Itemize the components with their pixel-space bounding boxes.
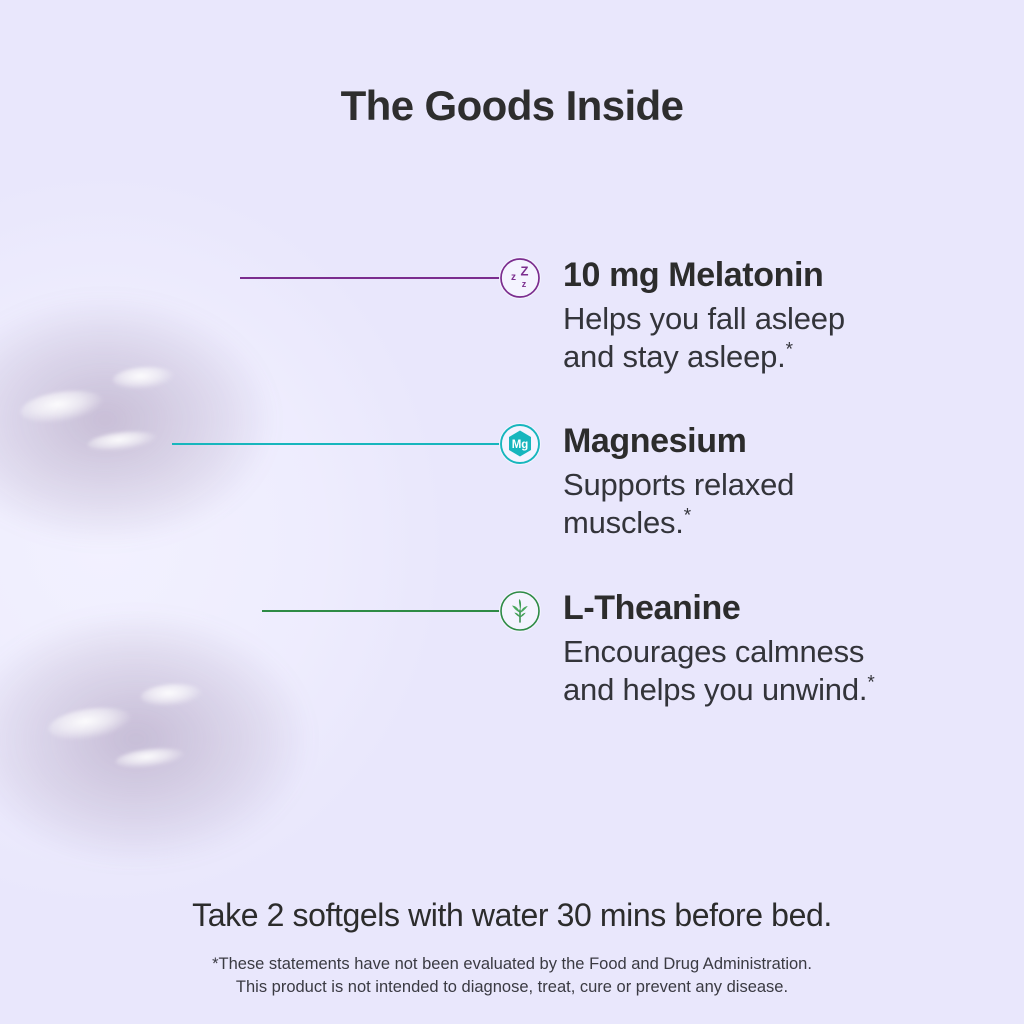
- benefit-melatonin-footnote-marker: *: [786, 340, 793, 361]
- benefit-magnesium-desc-line2: muscles.: [563, 505, 684, 540]
- svg-text:z: z: [522, 279, 527, 289]
- svg-text:Mg: Mg: [512, 439, 529, 451]
- svg-text:z: z: [511, 272, 516, 283]
- benefit-magnesium-title: Magnesium: [563, 424, 993, 460]
- page-title: The Goods Inside: [0, 82, 1024, 130]
- benefit-theanine: L-Theanine Encourages calmness and helps…: [563, 591, 993, 710]
- leader-line-theanine: [262, 610, 502, 612]
- svg-text:Z: Z: [521, 264, 529, 279]
- benefit-theanine-description: Encourages calmness and helps you unwind…: [563, 633, 993, 710]
- benefit-melatonin-desc-line2: and stay asleep.: [563, 339, 786, 374]
- benefit-theanine-footnote-marker: *: [867, 673, 874, 694]
- fda-disclaimer-line1: *These statements have not been evaluate…: [0, 953, 1024, 976]
- benefit-theanine-desc-line1: Encourages calmness: [563, 634, 864, 669]
- directions-text: Take 2 softgels with water 30 mins befor…: [0, 897, 1024, 934]
- tea-leaf-icon: [499, 590, 541, 632]
- benefit-magnesium-desc-line1: Supports relaxed: [563, 467, 794, 502]
- leader-line-magnesium: [172, 443, 502, 445]
- magnesium-hexagon-icon: Mg: [499, 423, 541, 465]
- benefit-magnesium-footnote-marker: *: [684, 506, 691, 527]
- benefit-melatonin-description: Helps you fall asleep and stay asleep.*: [563, 300, 993, 377]
- product-infographic: The Goods Inside Z z z 10 mg Melatonin H…: [0, 0, 1024, 1024]
- benefit-magnesium-description: Supports relaxed muscles.*: [563, 466, 993, 543]
- benefit-magnesium: Magnesium Supports relaxed muscles.*: [563, 424, 993, 543]
- fda-disclaimer-line2: This product is not intended to diagnose…: [0, 976, 1024, 999]
- fda-disclaimer: *These statements have not been evaluate…: [0, 953, 1024, 1000]
- benefit-melatonin-desc-line1: Helps you fall asleep: [563, 301, 845, 336]
- zzz-sleep-icon: Z z z: [499, 257, 541, 299]
- benefit-melatonin: 10 mg Melatonin Helps you fall asleep an…: [563, 258, 993, 377]
- benefit-theanine-desc-line2: and helps you unwind.: [563, 672, 867, 707]
- benefit-melatonin-title: 10 mg Melatonin: [563, 258, 993, 294]
- benefit-theanine-title: L-Theanine: [563, 591, 993, 627]
- leader-line-melatonin: [240, 277, 502, 279]
